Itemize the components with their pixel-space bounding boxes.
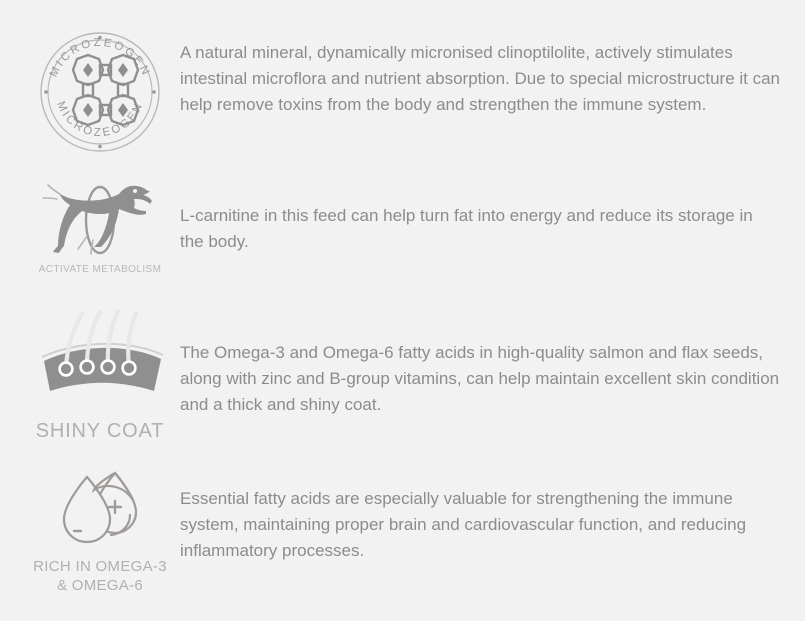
benefit-icon-column: RICH IN OMEGA-3 & OMEGA-6: [20, 468, 180, 596]
benefit-caption: ACTIVATE METABOLISM: [39, 264, 162, 277]
hair-follicles-skin-icon: [30, 305, 170, 397]
benefit-description: A natural mineral, dynamically micronise…: [180, 40, 780, 118]
benefit-description: Essential fatty acids are especially val…: [180, 486, 780, 564]
benefit-row: ACTIVATE METABOLISM L-carnitine in this …: [20, 180, 780, 277]
benefit-row: SHINY COAT The Omega-3 and Omega-6 fatty…: [20, 305, 780, 444]
benefit-icon-column: MICROZEOGEN MICROZEOGEN: [20, 22, 180, 162]
benefit-icon-column: ACTIVATE METABOLISM: [20, 180, 180, 277]
benefits-panel: MICROZEOGEN MICROZEOGEN: [0, 0, 805, 621]
benefit-icon-column: SHINY COAT: [20, 305, 180, 444]
benefit-row: MICROZEOGEN MICROZEOGEN: [20, 22, 780, 162]
omega-droplets-icon: [30, 468, 170, 548]
benefit-caption: RICH IN OMEGA-3 & OMEGA-6: [33, 558, 167, 596]
benefit-row: RICH IN OMEGA-3 & OMEGA-6 Essential fatt…: [20, 468, 780, 596]
microzeogen-badge-icon: MICROZEOGEN MICROZEOGEN: [30, 22, 170, 162]
jumping-dog-hoop-icon: [30, 180, 170, 258]
benefit-description: The Omega-3 and Omega-6 fatty acids in h…: [180, 340, 780, 418]
benefit-caption: SHINY COAT: [36, 419, 164, 444]
benefit-description: L-carnitine in this feed can help turn f…: [180, 203, 780, 255]
